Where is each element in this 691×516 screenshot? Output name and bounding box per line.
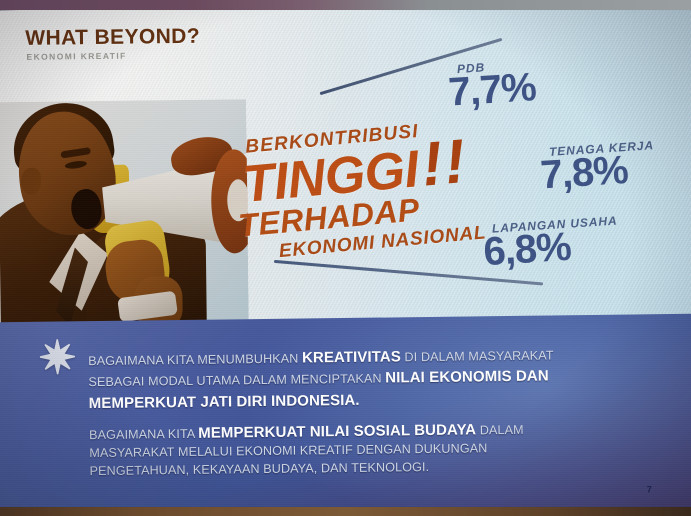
bullet-paragraph-2: BAGAIMANA KITA MEMPERKUAT NILAI SOSIAL B… xyxy=(89,418,585,481)
asterisk-icon: ✷ xyxy=(38,339,74,375)
slide-canvas: WHAT BEYOND? EKONOMI KREATIF xyxy=(0,2,691,516)
slide-lower-panel xyxy=(0,314,691,516)
stat-pdb: PDB 7,7% xyxy=(447,57,537,111)
panel-sheen xyxy=(0,314,691,516)
stat-tenaga-kerja: TENAGA KERJA 7,8% xyxy=(539,138,657,194)
page-subtitle: EKONOMI KREATIF xyxy=(26,51,126,62)
ear-shape xyxy=(21,168,41,195)
bullet-paragraph-1: BAGAIMANA KITA MENUMBUHKAN KREATIVITAS D… xyxy=(88,344,584,414)
para2-highlight-sosial-budaya: MEMPERKUAT NILAI SOSIAL BUDAYA xyxy=(198,421,476,441)
page-title: WHAT BEYOND? xyxy=(25,25,200,51)
megaphone-photo xyxy=(0,99,249,324)
headline-exclamation: !! xyxy=(419,131,470,197)
stat-lapangan-usaha: LAPANGAN USAHA 6,8% xyxy=(482,214,621,271)
stat-tenaga-kerja-value: 7,8% xyxy=(539,150,656,194)
screen-frame-top xyxy=(0,0,691,10)
projected-slide: WHAT BEYOND? EKONOMI KREATIF xyxy=(0,0,691,516)
para1-highlight-kreativitas: KREATIVITAS xyxy=(302,348,401,366)
headline-group: BERKONTRIBUSI TINGGI !! TERHADAP EKONOMI… xyxy=(239,116,488,264)
para2-text-a: BAGAIMANA KITA xyxy=(89,427,198,442)
para1-text-a: BAGAIMANA KITA MENUMBUHKAN xyxy=(88,352,302,369)
page-number: 7 xyxy=(647,484,652,494)
stat-pdb-value: 7,7% xyxy=(447,69,536,111)
screen-frame-bottom xyxy=(0,507,691,516)
